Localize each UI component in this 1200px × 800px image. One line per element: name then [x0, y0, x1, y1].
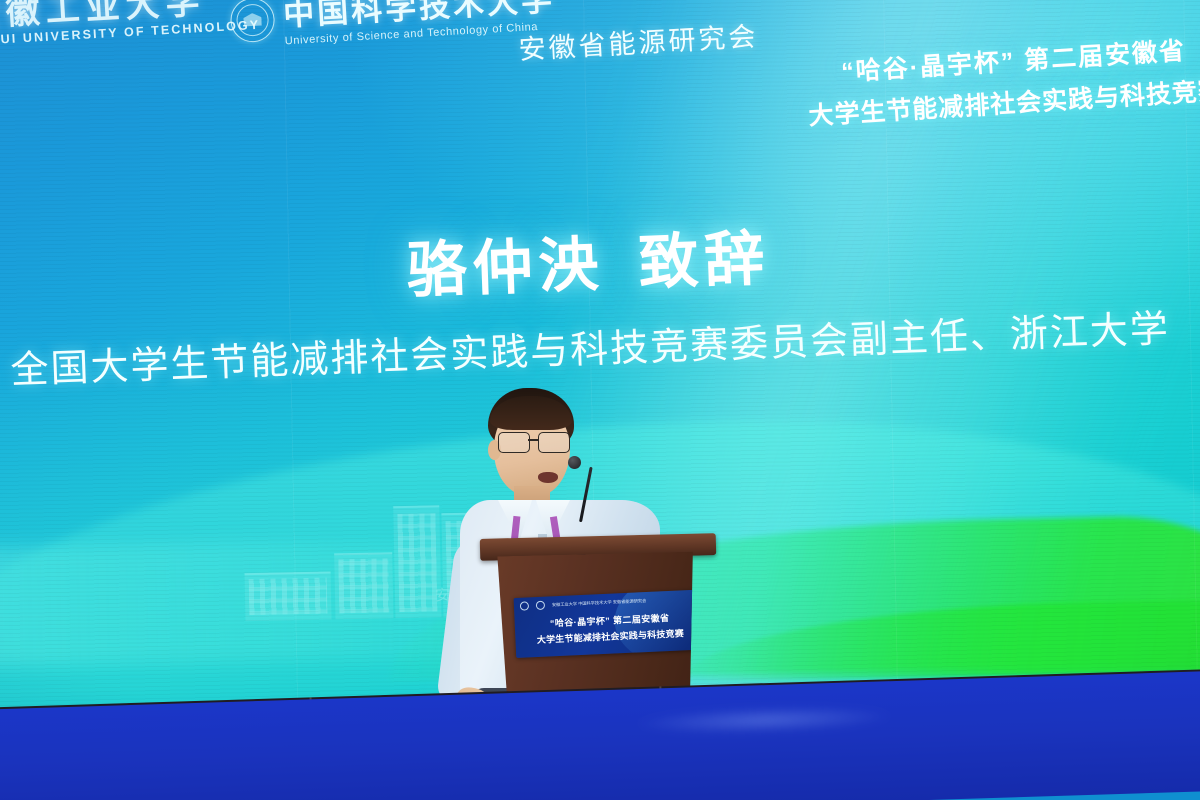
- podium-logo-dot-1: [520, 601, 529, 610]
- podium-logo-dot-2: [536, 601, 545, 610]
- glasses-lens-right: [538, 432, 570, 453]
- podium-sign: 安徽工业大学 中国科学技术大学 安徽省能源研究会 “哈谷·晶宇杯” 第二届安徽省…: [514, 589, 707, 658]
- speaker-name: 骆仲泱: [405, 216, 606, 310]
- aut-logo: 安徽工业大学 ANHUI UNIVERSITY OF TECHNOLOGY: [0, 0, 261, 48]
- headline-action: 致辞: [637, 210, 772, 302]
- ustc-seal-icon: [229, 0, 275, 43]
- conference-stage-photo: 安徽工业大学 安徽工业大学 ANHUI UNIVERSITY OF TECHNO…: [0, 0, 1200, 800]
- floor-sheen: [634, 703, 895, 737]
- glasses-lens-left: [498, 432, 530, 453]
- ustc-logo: 中国科学技术大学 University of Science and Techn…: [229, 0, 557, 50]
- microphone-head-icon: [568, 456, 581, 469]
- speaker-mouth: [538, 472, 558, 483]
- eyeglasses-icon: [494, 432, 576, 452]
